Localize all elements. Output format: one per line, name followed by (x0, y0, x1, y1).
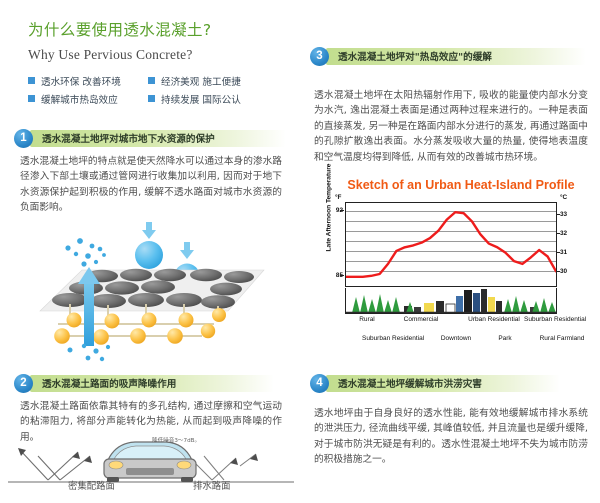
page-title-en: Why Use Pervious Concrete? (28, 47, 296, 63)
vapor-particles-bottom (68, 344, 111, 361)
chart-ytick-right-32: 32 (560, 230, 567, 237)
feature-bullet-list: 透水环保 改善环境 经济美观 施工便捷 缓解城市热岛效应 持续发展 国际公认 (28, 73, 290, 106)
park-trees (504, 296, 528, 313)
chart-skyline-strip (345, 288, 557, 314)
section-header-1: 1 透水混凝土地坪对城市地下水资源的保护 (14, 128, 286, 148)
suburban-buildings-left (404, 302, 421, 313)
chart-title: Sketch of an Urban Heat-Island Profile (336, 178, 586, 192)
section-number-badge-1: 1 (14, 129, 33, 148)
commercial-buildings (424, 301, 455, 313)
xlabel-commercial: Commercial (390, 316, 452, 324)
page-title-cn: 为什么要使用透水混凝土? (28, 18, 296, 40)
heat-island-chart: Sketch of an Urban Heat-Island Profile L… (306, 178, 596, 350)
section-header-4: 4 透水混凝土地坪缓解城市洪涝灾害 (310, 373, 590, 393)
tree-cluster-left (352, 294, 400, 313)
square-bullet-icon (148, 77, 155, 84)
subbase-particles (54, 308, 226, 345)
section-header-2: 2 透水混凝土路面的吸声降噪作用 (14, 373, 286, 393)
bullet-row: 缓解城市热岛效应 持续发展 国际公认 (28, 91, 290, 106)
xlabel-suburban-residential-right: Suburban Residential (524, 316, 582, 324)
water-drop-large (135, 241, 163, 269)
chart-x-axis-labels: Rural Commercial Urban Residential Subur… (336, 316, 592, 350)
section-title-4: 透水混凝土地坪缓解城市洪涝灾害 (338, 376, 482, 390)
section-title-bar-2: 透水混凝土路面的吸声降噪作用 (30, 375, 274, 392)
caption-drainage-pavement: 排水路面 (193, 478, 231, 492)
chart-ytick-right-33: 33 (560, 211, 567, 218)
section-body-4: 透水地坪由于自身良好的透水性能, 能有效地缓解城市排水系统的泄洪压力, 径流曲线… (314, 406, 588, 468)
xlabel-rural: Rural (346, 316, 388, 324)
bullet-row: 透水环保 改善环境 经济美观 施工便捷 (28, 73, 290, 88)
section-title-bar-1: 透水混凝土地坪对城市地下水资源的保护 (30, 130, 286, 147)
section-title-1: 透水混凝土地坪对城市地下水资源的保护 (42, 131, 215, 145)
rain-arrow-icon-2 (180, 242, 194, 259)
illustration-captions: 密集配路面 排水路面 (8, 478, 294, 494)
skyline-svg (346, 288, 556, 313)
bullet-item: 缓解城市热岛效应 (28, 92, 148, 106)
square-bullet-icon (148, 95, 155, 102)
bullet-label: 缓解城市热岛效应 (41, 92, 118, 106)
bullet-label: 持续发展 国际公认 (161, 92, 241, 106)
chart-ytick-right-31: 31 (560, 249, 567, 256)
section-title-bar-3: 透水混凝土地坪对"热岛效应"的缓解 (326, 48, 586, 65)
xlabel-rural-farmland: Rural Farmland (538, 335, 586, 343)
section-number-badge-4: 4 (310, 374, 329, 393)
bullet-item: 透水环保 改善环境 (28, 74, 148, 88)
section-header-3: 3 透水混凝土地坪对"热岛效应"的缓解 (310, 46, 590, 66)
car-illustration (104, 442, 196, 482)
infiltration-svg (18, 218, 282, 366)
section-number-badge-3: 3 (310, 47, 329, 66)
downtown-skyscrapers (456, 289, 502, 313)
infiltration-illustration (18, 218, 282, 366)
section-title-2: 透水混凝土路面的吸声降噪作用 (42, 376, 176, 390)
suburban-and-farmland-right (530, 298, 556, 313)
temperature-curve (346, 203, 556, 286)
sound-rays-left (18, 448, 92, 480)
rain-arrow-icon-1 (142, 222, 156, 239)
section-title-bar-4: 透水混凝土地坪缓解城市洪涝灾害 (326, 375, 560, 392)
bullet-item: 持续发展 国际公认 (148, 92, 288, 106)
square-bullet-icon (28, 77, 35, 84)
xlabel-urban-residential: Urban Residential (468, 316, 520, 324)
xlabel-downtown: Downtown (428, 335, 484, 343)
vapor-particles-top (65, 238, 106, 267)
section-number-badge-2: 2 (14, 374, 33, 393)
xlabel-park: Park (488, 335, 522, 343)
noise-reduction-note: 降低噪音3～7dB。 (152, 436, 200, 444)
xlabel-suburban-residential-left: Suburban Residential (362, 335, 420, 343)
bullet-label: 经济美观 施工便捷 (161, 74, 241, 88)
chart-plot-area (345, 202, 557, 287)
page-header: 为什么要使用透水混凝土? Why Use Pervious Concrete? … (28, 18, 296, 109)
square-bullet-icon (28, 95, 35, 102)
bullet-item: 经济美观 施工便捷 (148, 74, 288, 88)
section-body-3: 透水混凝土地坪在太阳热辐射作用下, 吸收的能量使内部水分变为水汽, 逸出混凝土表… (314, 88, 588, 165)
chart-left-unit: °F (335, 194, 341, 201)
section-title-3: 透水混凝土地坪对"热岛效应"的缓解 (338, 49, 492, 63)
chart-right-unit: °C (560, 194, 567, 201)
caption-dense-pavement: 密集配路面 (68, 478, 115, 492)
bullet-label: 透水环保 改善环境 (41, 74, 121, 88)
chart-ytick-right-30: 30 (560, 268, 567, 275)
brochure-page: 为什么要使用透水混凝土? Why Use Pervious Concrete? … (0, 0, 600, 503)
section-body-1: 透水混凝土地坪的特点就是使天然降水可以通过本身的渗水路径渗入下部土壤或通过管网进… (20, 154, 282, 216)
